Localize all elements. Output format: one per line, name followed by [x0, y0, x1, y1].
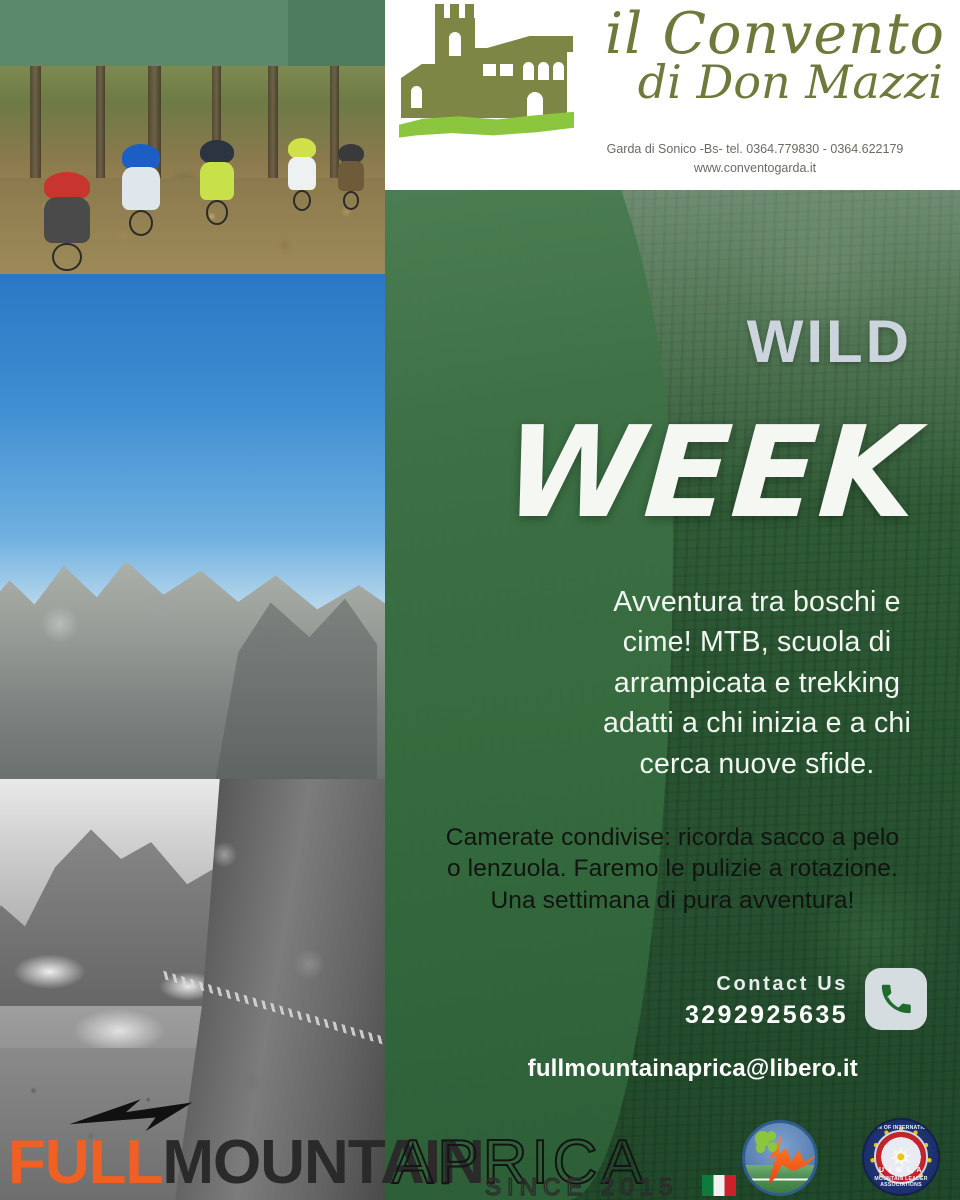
- convent-logo-header: il Convento di Don Mazzi Garda di Sonico…: [385, 0, 960, 190]
- italian-flag-icon: [702, 1175, 736, 1196]
- brand-footer-band: FULLMOUNTAIN APRICA SINCE 2015 UNION OF …: [0, 1122, 960, 1200]
- contact-phone-number[interactable]: 3292925635: [685, 1001, 848, 1030]
- lede-line-2: cime! MTB, scuola di: [580, 622, 934, 662]
- lede-paragraph: Avventura tra boschi e cime! MTB, scuola…: [580, 582, 934, 784]
- uimla-badge: UNION OF INTERNATIONAL U I M L A MOUNTAI…: [862, 1118, 940, 1196]
- rider-child: [288, 138, 316, 200]
- left-photo-column: [0, 0, 385, 1200]
- notice-line-1: Camerate condivise: ricorda sacco a pelo: [395, 822, 950, 853]
- top-green-band: [0, 0, 385, 66]
- uimla-acronym: U I M L A: [864, 1167, 938, 1174]
- logo-title-line2: di Don Mazzi: [585, 59, 945, 105]
- phone-icon: [879, 982, 913, 1016]
- contact-label: Contact Us: [716, 973, 848, 996]
- rider-child: [44, 172, 90, 256]
- agmo-guide-badge: [742, 1120, 818, 1196]
- photo-kids-mtb-forest: [0, 66, 385, 274]
- rider-child: [200, 140, 234, 212]
- brand-since-year: SINCE 2015: [485, 1176, 678, 1200]
- contact-email[interactable]: fullmountainaprica@libero.it: [385, 1055, 858, 1083]
- lede-line-1: Avventura tra boschi e: [580, 582, 934, 622]
- lede-line-3: arrampicata e trekking: [580, 663, 934, 703]
- accommodation-notice: Camerate condivise: ricorda sacco a pelo…: [395, 822, 950, 916]
- notice-line-2: o lenzuola. Faremo le pulizie a rotazion…: [395, 853, 950, 884]
- rider-child: [122, 144, 160, 222]
- convent-address-line: Garda di Sonico -Bs- tel. 0364.779830 - …: [565, 140, 945, 159]
- phone-icon-badge[interactable]: [865, 968, 927, 1030]
- convent-logo-title: il Convento di Don Mazzi: [585, 6, 945, 105]
- photo-rocky-summit-panorama: [0, 274, 385, 779]
- lede-line-5: cerca nuove sfide.: [580, 744, 934, 784]
- uimla-bottom-text: MOUNTAIN LEADER ASSOCIATIONS: [864, 1176, 938, 1188]
- convent-website[interactable]: www.conventogarda.it: [565, 159, 945, 178]
- poster-root: il Convento di Don Mazzi Garda di Sonico…: [0, 0, 960, 1200]
- contact-block: Contact Us 3292925635 fullmountainaprica…: [385, 965, 960, 1085]
- headline-kicker: WILD: [747, 312, 912, 372]
- right-content-panel: il Convento di Don Mazzi Garda di Sonico…: [385, 0, 960, 1200]
- lede-line-4: adatti a chi inizia e a chi: [580, 703, 934, 743]
- notice-line-3: Una settimana di pura avventura!: [395, 885, 950, 916]
- brand-word-full: FULL: [8, 1128, 162, 1197]
- convent-church-logo-icon: [399, 4, 574, 149]
- clover-icon: [755, 1131, 770, 1146]
- convent-contact-info: Garda di Sonico -Bs- tel. 0364.779830 - …: [565, 140, 945, 179]
- page-title: WEEK: [501, 410, 923, 536]
- rider-child: [338, 144, 364, 200]
